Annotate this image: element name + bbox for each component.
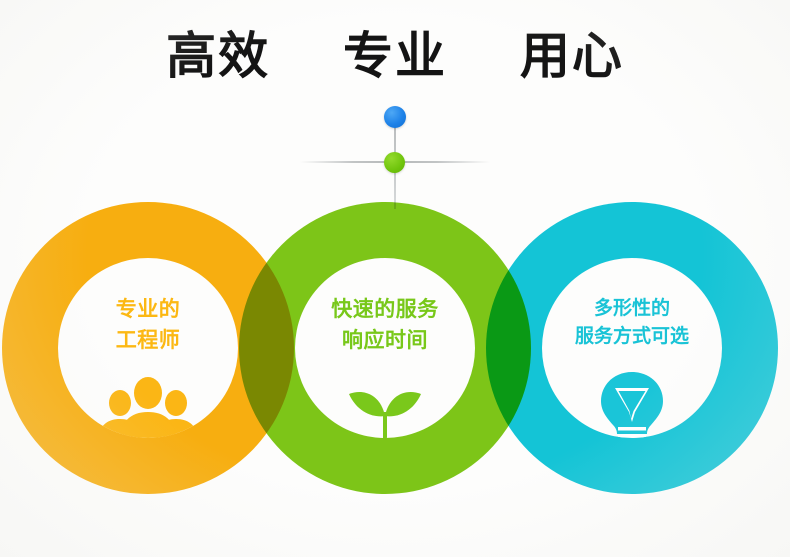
circle-label-green-line2: 响应时间: [342, 328, 428, 352]
poster-canvas: 高效 专业 用心 专业的工程师 快: [0, 0, 790, 557]
sprout-icon: [295, 372, 475, 438]
headline-word-2: 专业: [343, 28, 447, 86]
circle-label-orange: 专业的工程师: [58, 294, 238, 356]
circle-content-cyan: 多形性的服务方式可选: [542, 258, 722, 438]
headline-word-3: 用心: [520, 28, 624, 86]
circle-label-orange-line1: 专业的: [116, 297, 181, 321]
page-title: 高效 专业 用心: [0, 28, 790, 86]
headline-word-1: 高效: [166, 28, 270, 86]
circle-content-orange: 专业的工程师: [58, 258, 238, 438]
green-dot-icon: [384, 152, 405, 173]
circle-label-orange-line2: 工程师: [116, 328, 181, 352]
lightbulb-icon: [542, 370, 722, 438]
circle-label-cyan-line1: 多形性的: [594, 297, 670, 319]
blue-dot-icon: [384, 106, 406, 128]
circle-content-green: 快速的服务响应时间: [295, 258, 475, 438]
circle-label-green: 快速的服务响应时间: [295, 294, 475, 356]
circle-label-green-line1: 快速的服务: [331, 297, 439, 321]
people-group-icon: [58, 376, 238, 438]
circle-label-cyan-line2: 服务方式可选: [575, 325, 689, 347]
circle-label-cyan: 多形性的服务方式可选: [542, 294, 722, 350]
